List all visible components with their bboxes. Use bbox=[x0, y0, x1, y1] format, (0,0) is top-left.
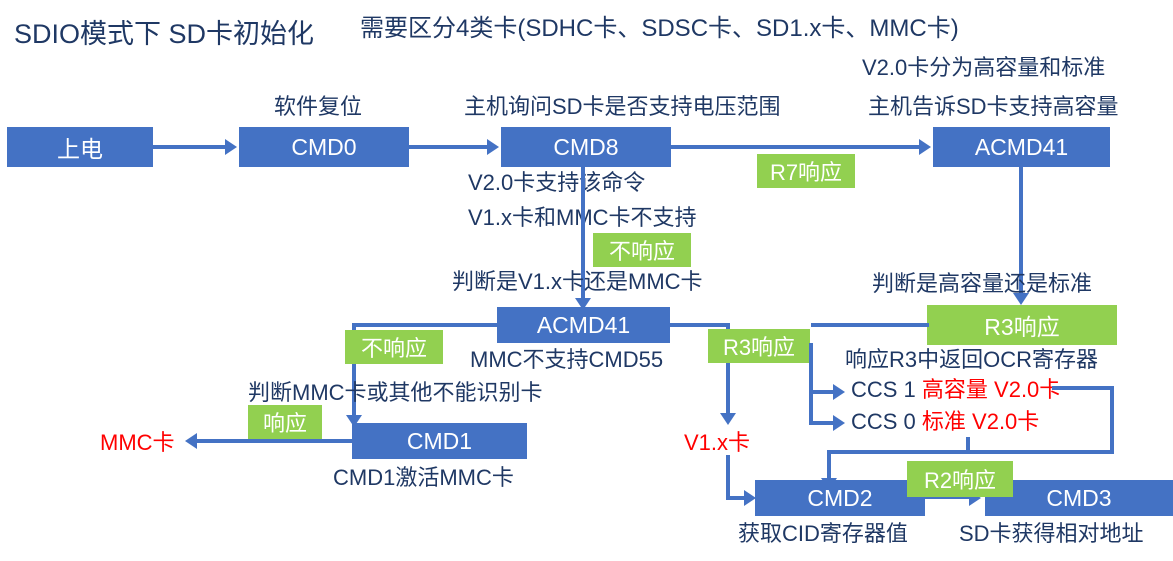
badge-r3-response-big: R3响应 bbox=[927, 305, 1117, 345]
page-title: SDIO模式下 SD卡初始化 bbox=[14, 12, 314, 51]
header-note-v2: V2.0卡分为高容量和标准 bbox=[862, 56, 1105, 81]
box-cmd0[interactable]: CMD0 bbox=[239, 127, 409, 167]
box-cmd1[interactable]: CMD1 bbox=[352, 423, 527, 459]
arrow-cmd1-to-mmc-head bbox=[185, 433, 197, 449]
badge-no-response-cmd8: 不响应 bbox=[593, 233, 691, 267]
arrow-cmd0-to-cmd8-head bbox=[487, 139, 499, 155]
box-acmd41-mid[interactable]: ACMD41 bbox=[497, 307, 670, 343]
label-ccs0-prefix: CCS 0 bbox=[851, 409, 922, 434]
badge-response-mmc: 响应 bbox=[248, 405, 322, 439]
connector-ccs1-return-down bbox=[1110, 386, 1114, 454]
connector-cmd8-to-acmd41 bbox=[671, 145, 919, 149]
connector-ccs1-return-top bbox=[1052, 386, 1114, 390]
caption-host-tell-high-capacity: 主机告诉SD卡支持高容量 bbox=[868, 95, 1119, 120]
connector-ccs1-return-left bbox=[966, 450, 1114, 454]
label-ccs1-prefix: CCS 1 bbox=[851, 377, 922, 402]
connector-cmd0-to-cmd8 bbox=[409, 145, 489, 149]
caption-v20-supports: V2.0卡支持该命令 bbox=[468, 171, 645, 196]
connector-ccs-fork-stem bbox=[809, 343, 813, 425]
badge-r2-response: R2响应 bbox=[907, 461, 1013, 497]
connector-r3-left-stub bbox=[811, 323, 929, 327]
label-ccs1-value: 高容量 V2.0卡 bbox=[922, 377, 1061, 402]
connector-cmd1-to-mmc bbox=[196, 439, 354, 443]
box-power-on[interactable]: 上电 bbox=[7, 127, 153, 167]
caption-resp-r3-returns-ocr: 响应R3中返回OCR寄存器 bbox=[845, 348, 1098, 373]
caption-judge-v1x-or-mmc: 判断是V1.x卡还是MMC卡 bbox=[452, 270, 703, 295]
arrow-ccs1-head bbox=[833, 384, 845, 400]
badge-r7-response: R7响应 bbox=[757, 154, 855, 188]
arrow-acmd41-right-head bbox=[720, 413, 736, 425]
arrow-cmd8-to-acmd41-head bbox=[919, 139, 931, 155]
label-ccs0: CCS 0 标准 V2.0卡 bbox=[851, 410, 1039, 435]
badge-r3-response-small: R3响应 bbox=[708, 329, 810, 363]
connector-acmd41-right bbox=[670, 323, 730, 327]
caption-get-cid: 获取CID寄存器值 bbox=[738, 522, 908, 547]
caption-soft-reset: 软件复位 bbox=[274, 95, 362, 120]
caption-cmd1-activates-mmc: CMD1激活MMC卡 bbox=[333, 466, 514, 491]
connector-ccs-merge-left bbox=[827, 450, 969, 454]
connector-acmd41-left bbox=[352, 323, 500, 327]
connector-power-to-cmd0 bbox=[153, 145, 227, 149]
caption-host-ask-voltage: 主机询问SD卡是否支持电压范围 bbox=[464, 95, 781, 120]
box-cmd3[interactable]: CMD3 bbox=[985, 480, 1173, 516]
caption-judge-high-or-standard: 判断是高容量还是标准 bbox=[872, 272, 1092, 297]
arrow-ccs0-head bbox=[833, 415, 845, 431]
caption-judge-mmc-or-unknown: 判断MMC卡或其他不能识别卡 bbox=[248, 381, 543, 406]
badge-no-response-acmd41: 不响应 bbox=[345, 330, 443, 364]
result-v1x-card: V1.x卡 bbox=[684, 425, 750, 457]
box-acmd41-top[interactable]: ACMD41 bbox=[933, 127, 1110, 167]
label-ccs0-value: 标准 V2.0卡 bbox=[922, 409, 1039, 434]
flowchart-canvas: SDIO模式下 SD卡初始化 需要区分4类卡(SDHC卡、SDSC卡、SD1.x… bbox=[0, 0, 1173, 561]
label-ccs1: CCS 1 高容量 V2.0卡 bbox=[851, 378, 1061, 403]
caption-mmc-not-support-cmd55: MMC不支持CMD55 bbox=[470, 348, 663, 373]
result-mmc-card: MMC卡 bbox=[100, 425, 175, 457]
box-cmd2[interactable]: CMD2 bbox=[755, 480, 925, 516]
box-cmd8[interactable]: CMD8 bbox=[501, 127, 671, 167]
arrow-power-to-cmd0-head bbox=[225, 139, 237, 155]
caption-sd-gets-rca: SD卡获得相对地址 bbox=[959, 522, 1144, 547]
header-subtitle: 需要区分4类卡(SDHC卡、SDSC卡、SD1.x卡、MMC卡) bbox=[360, 16, 959, 43]
connector-v1x-down bbox=[726, 455, 730, 500]
